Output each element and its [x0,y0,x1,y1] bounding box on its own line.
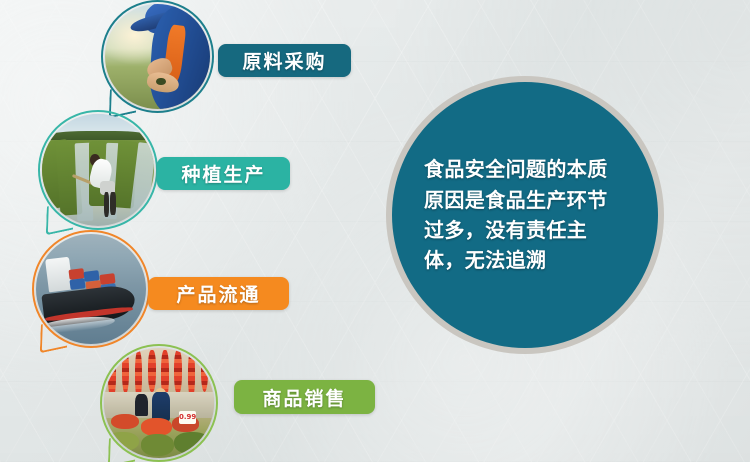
bubble-tail-3 [40,319,68,354]
statement-text: 食品安全问题的本质原因是食品生产环节过多，没有责任主体，无法追溯 [424,154,622,276]
stage-label-product-distribution[interactable]: 产品流通 [148,277,289,310]
stage-bubble-product-distribution[interactable] [36,234,146,344]
statement-circle: 食品安全问题的本质原因是食品生产环节过多，没有责任主体，无法追溯 [392,82,658,348]
infographic-canvas: 原料采购 种植生产 [0,0,750,462]
stage-label-planting-production[interactable]: 种植生产 [157,157,290,190]
bubble-tail-4 [108,433,136,462]
stage-label-text: 种植生产 [181,160,265,187]
stage-label-text: 商品销售 [262,384,346,411]
stage-label-raw-material-procurement[interactable]: 原料采购 [218,44,351,77]
stage-bubble-goods-sales[interactable]: 0.99 [104,348,214,458]
bubble-tail-2 [46,201,74,236]
stage-label-text: 产品流通 [176,280,260,307]
stage-label-text: 原料采购 [242,47,326,74]
stage-label-goods-sales[interactable]: 商品销售 [234,380,375,414]
stage-bubble-raw-material-procurement[interactable] [105,4,210,109]
stage-bubble-planting-production[interactable] [42,114,154,226]
